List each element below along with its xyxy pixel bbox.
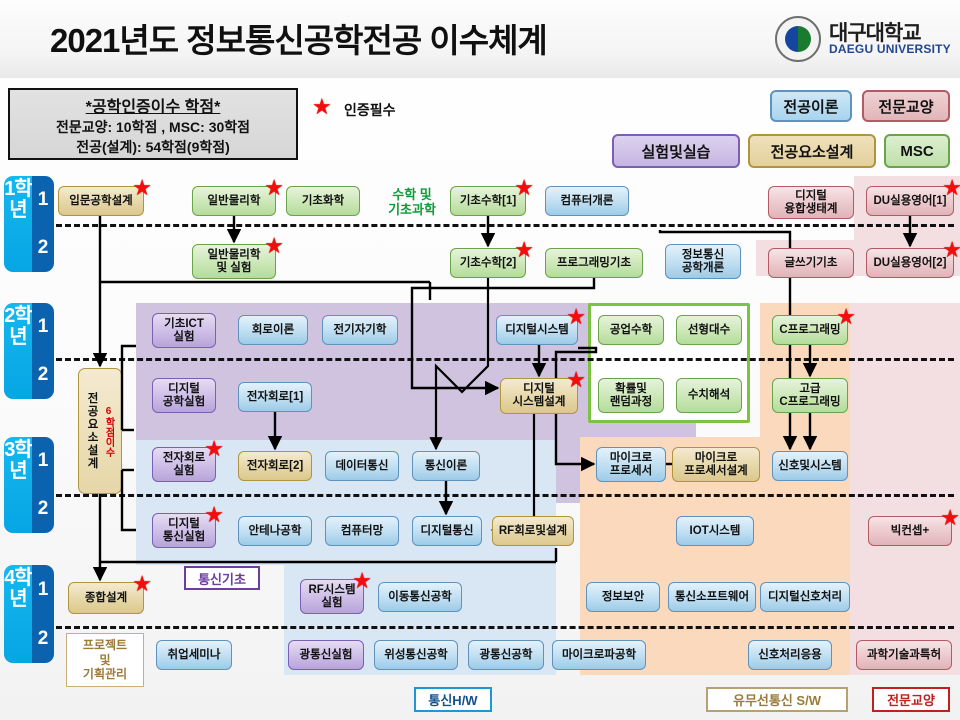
semester-divider-1 (56, 224, 954, 227)
course-label: 신호및시스템 (778, 460, 841, 473)
course-box[interactable]: 디지털시스템설계★ (500, 378, 578, 414)
page-header: 2021년도 정보통신공학전공 이수체계 대구대학교 DAEGU UNIVERS… (0, 0, 960, 78)
curriculum-diagram: 2021년도 정보통신공학전공 이수체계 대구대학교 DAEGU UNIVERS… (0, 0, 960, 720)
star-icon: ★ (566, 306, 586, 328)
course-label: 전자회로[1] (247, 391, 303, 404)
course-label: 컴퓨터개론 (561, 195, 614, 208)
course-label: 디지털통신실험 (163, 518, 205, 544)
legend-chip-liberal: 전문교양 (862, 90, 950, 122)
course-label: 디지털통신 (421, 525, 474, 538)
university-name-en: DAEGU UNIVERSITY (829, 42, 951, 56)
course-label: 마이크로파공학 (562, 649, 636, 662)
course-label: 안테나공학 (249, 525, 302, 538)
course-box[interactable]: 통신소프트웨어 (668, 582, 756, 612)
star-icon: ★ (514, 177, 534, 199)
course-box[interactable]: 회로이론 (238, 315, 308, 345)
semester-1-2: 2 (32, 224, 54, 272)
credit-note-line2: 전문교양: 10학점 , MSC: 30학점 (10, 117, 296, 137)
tag-liberal: 전문교양 (872, 687, 950, 712)
semester-divider-4 (56, 626, 954, 629)
course-box[interactable]: 선형대수 (676, 315, 742, 345)
course-box[interactable]: 광통신공학 (468, 640, 544, 670)
course-label: 정보통신공학개론 (682, 249, 724, 275)
course-box[interactable]: 글쓰기기초 (768, 248, 854, 278)
course-box[interactable]: 디지털통신실험★ (152, 513, 216, 548)
course-label: 입문공학설계 (69, 195, 132, 208)
course-label: 취업세미나 (168, 649, 221, 662)
course-label: C프로그래밍 (779, 324, 840, 337)
course-box[interactable]: 입문공학설계★ (58, 186, 144, 216)
course-box[interactable]: 통신이론 (412, 451, 480, 481)
course-label: RF시스템실험 (308, 584, 355, 610)
course-box[interactable]: 확률및랜덤과정 (598, 378, 664, 413)
course-label: 선형대수 (688, 324, 730, 337)
course-label: 종합설계 (85, 592, 127, 605)
course-label: DU실용영어[2] (874, 257, 947, 270)
course-box[interactable]: 일반물리학★ (192, 186, 276, 216)
credit-note-line3: 전공(설계): 54학점(9학점) (10, 137, 296, 157)
course-box[interactable]: 컴퓨터망 (325, 516, 399, 546)
daegu-university-emblem-icon (775, 16, 821, 62)
legend-chip-lab: 실험및실습 (612, 134, 740, 168)
course-label: 기초수학[2] (460, 257, 516, 270)
year-label-2: 2학년 (4, 303, 32, 399)
course-box[interactable]: 전자회로[1] (238, 382, 312, 412)
course-box[interactable]: DU실용영어[1]★ (866, 186, 954, 216)
course-box[interactable]: 컴퓨터개론 (545, 186, 629, 216)
course-box[interactable]: 디지털시스템★ (496, 315, 578, 345)
star-icon: ★ (132, 573, 152, 595)
course-box[interactable]: 수치해석 (676, 378, 742, 413)
course-box[interactable]: 전자회로실험★ (152, 447, 216, 482)
course-box[interactable]: RF시스템실험★ (300, 579, 364, 614)
course-label: 디지털공학실험 (163, 383, 205, 409)
tag-comm-hw: 통신H/W (414, 687, 492, 712)
course-label: 통신이론 (425, 460, 467, 473)
course-label: 신호처리응용 (758, 649, 821, 662)
semester-3-2: 2 (32, 485, 54, 533)
course-box[interactable]: 기초ICT실험 (152, 313, 216, 348)
course-label: 정보보안 (602, 591, 644, 604)
semester-2-2: 2 (32, 351, 54, 399)
star-icon: ★ (836, 306, 856, 328)
course-label: 기초화학 (302, 195, 344, 208)
course-label: 컴퓨터망 (341, 525, 383, 538)
semester-2-1: 1 (32, 303, 54, 351)
star-icon: ★ (352, 570, 372, 592)
credit-requirements-box: *공학인증이수 학점* 전문교양: 10학점 , MSC: 30학점 전공(설계… (8, 88, 298, 160)
course-box[interactable]: 빅컨셉+★ (868, 516, 952, 546)
semester-divider-3 (56, 494, 954, 497)
course-label: 기초수학[1] (460, 195, 516, 208)
page-title: 2021년도 정보통신공학전공 이수체계 (50, 14, 750, 62)
course-label: RF회로및설계 (499, 525, 567, 538)
semester-3-1: 1 (32, 437, 54, 485)
course-box[interactable]: 마이크로프로세서설계 (672, 447, 760, 482)
element-design-note: 6학점이수 (101, 406, 116, 457)
semester-4-2: 2 (32, 614, 54, 663)
course-box[interactable]: 디지털신호처리 (760, 582, 850, 612)
course-label: 빅컨셉+ (891, 525, 929, 538)
star-icon: ★ (940, 507, 960, 529)
course-box[interactable]: 취업세미나 (156, 640, 232, 670)
course-box[interactable]: 안테나공학 (238, 516, 312, 546)
course-box[interactable]: 디지털공학실험 (152, 378, 216, 413)
semester-1-1: 1 (32, 176, 54, 224)
course-label: 디지털시스템설계 (513, 383, 566, 409)
course-label: 회로이론 (252, 324, 294, 337)
course-label: 디지털융합생태계 (785, 190, 838, 216)
course-box[interactable]: 전기자기학 (322, 315, 398, 345)
course-label: 디지털신호처리 (768, 591, 842, 604)
star-icon: ★ (204, 438, 224, 460)
tag-comm-sw: 유무선통신 S/W (706, 687, 848, 712)
math-science-group-label: 수학 및기초과학 (372, 188, 452, 218)
star-icon: ★ (132, 177, 152, 199)
legend-chip-design: 전공요소설계 (748, 134, 876, 168)
star-icon: ★ (942, 239, 960, 261)
course-label: 수치해석 (688, 389, 730, 402)
star-icon: ★ (942, 177, 960, 199)
year-label-4: 4학년 (4, 565, 32, 663)
course-box[interactable]: 정보보안 (586, 582, 660, 612)
star-icon: ★ (312, 94, 332, 119)
course-label: 데이터통신 (336, 460, 389, 473)
course-label: 이동통신공학 (388, 591, 451, 604)
course-box[interactable]: IOT시스템 (676, 516, 754, 546)
element-design-box: 전공요소설계 6학점이수 (78, 368, 122, 494)
course-label: 위성통신공학 (384, 649, 447, 662)
course-box[interactable]: 프로그래밍기초 (545, 248, 643, 278)
course-label: 광통신실험 (300, 649, 353, 662)
course-box[interactable]: 마이크로파공학 (552, 640, 646, 670)
course-label: 디지털시스템 (505, 324, 568, 337)
course-box[interactable]: 이동통신공학 (378, 582, 462, 612)
course-label: 일반물리학 (208, 195, 261, 208)
legend-chip-msc: MSC (884, 134, 950, 168)
course-label: DU실용영어[1] (874, 195, 947, 208)
course-label: 마이크로프로세서설계 (684, 452, 747, 478)
course-box[interactable]: 디지털융합생태계 (768, 186, 854, 219)
credit-note-title: *공학인증이수 학점* (10, 93, 296, 117)
course-label: 통신소프트웨어 (675, 591, 749, 604)
course-box[interactable]: 과학기술과특허 (856, 640, 952, 670)
project-planning-box: 프로젝트및기획관리 (66, 633, 144, 687)
course-box[interactable]: 위성통신공학 (374, 640, 458, 670)
element-design-label: 전공요소설계 (84, 392, 100, 470)
course-box[interactable]: 마이크로프로세서 (596, 447, 666, 482)
star-icon: ★ (264, 177, 284, 199)
course-label: 전자회로실험 (163, 452, 205, 478)
course-label: 과학기술과특허 (867, 649, 941, 662)
course-label: 글쓰기기초 (785, 257, 838, 270)
course-box[interactable]: DU실용영어[2]★ (866, 248, 954, 278)
course-label: 공업수학 (610, 324, 652, 337)
course-label: 전자회로[2] (247, 460, 303, 473)
star-legend: ★ 인증필수 (312, 96, 462, 122)
star-icon: ★ (264, 235, 284, 257)
course-label: 일반물리학및 실험 (208, 249, 261, 275)
course-box[interactable]: 신호처리응용 (748, 640, 832, 670)
course-box[interactable]: 종합설계★ (68, 582, 144, 614)
course-box[interactable]: C프로그래밍★ (772, 315, 848, 345)
course-box[interactable]: 기초화학 (286, 186, 360, 216)
course-box[interactable]: 데이터통신 (325, 451, 399, 481)
course-label: IOT시스템 (690, 525, 741, 538)
year-label-3: 3학년 (4, 437, 32, 533)
university-logo: 대구대학교 DAEGU UNIVERSITY (775, 16, 950, 64)
course-box[interactable]: 일반물리학및 실험★ (192, 244, 276, 279)
course-box[interactable]: 광통신실험 (288, 640, 364, 670)
course-box[interactable]: 정보통신공학개론 (665, 244, 741, 279)
star-icon: ★ (514, 239, 534, 261)
semester-divider-2 (56, 358, 954, 361)
star-icon: ★ (566, 369, 586, 391)
course-box[interactable]: 기초수학[1]★ (450, 186, 526, 216)
course-box[interactable]: 기초수학[2]★ (450, 248, 526, 278)
course-box[interactable]: 신호및시스템 (772, 451, 848, 481)
year-label-1: 1학년 (4, 176, 32, 272)
course-box[interactable]: 고급C프로그래밍 (772, 378, 848, 413)
legend-chip-theory: 전공이론 (770, 90, 852, 122)
course-box[interactable]: RF회로및설계 (492, 516, 574, 546)
course-label: 프로그래밍기초 (557, 257, 631, 270)
course-box[interactable]: 디지털통신 (412, 516, 482, 546)
star-icon: ★ (204, 504, 224, 526)
course-label: 확률및랜덤과정 (610, 383, 652, 409)
course-box[interactable]: 공업수학 (598, 315, 664, 345)
course-box[interactable]: 전자회로[2] (238, 451, 312, 481)
course-label: 전기자기학 (334, 324, 387, 337)
course-label: 마이크로프로세서 (610, 452, 652, 478)
course-label: 고급C프로그래밍 (779, 383, 840, 409)
course-label: 기초ICT실험 (164, 318, 204, 344)
semester-4-1: 1 (32, 565, 54, 614)
star-legend-label: 인증필수 (344, 100, 396, 120)
course-label: 광통신공학 (480, 649, 533, 662)
tag-comm-basic: 통신기초 (184, 566, 260, 590)
